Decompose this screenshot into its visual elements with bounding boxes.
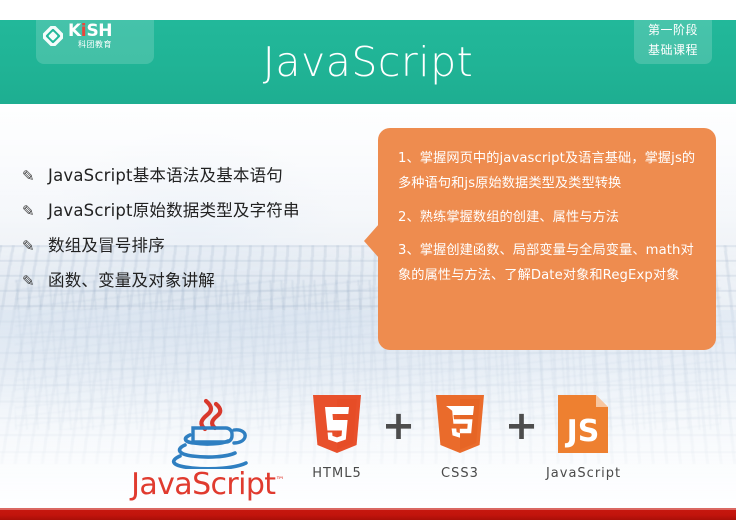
java-logo-text: JavaScript: [131, 467, 275, 502]
objectives-callout: 1、掌握网页中的javascript及语言基础，掌握js的多种语句和js原始数据…: [378, 128, 716, 350]
list-item: ✎ JavaScript原始数据类型及字符串: [22, 201, 362, 221]
objective-line: 3、掌握创建函数、局部变量与全局变量、math对象的属性与方法、了解Date对象…: [398, 238, 698, 289]
java-logo-group: JavaScript™: [125, 395, 290, 502]
html5-logo-group: HTML5: [300, 390, 374, 481]
slide-root: K i SH 科团教育 JavaScript 第一阶段 基础课程 ✎ JavaS…: [0, 0, 736, 520]
objective-line: 2、熟练掌握数组的创建、属性与方法: [398, 205, 698, 230]
callout-arrow-icon: [364, 224, 379, 258]
pencil-icon: ✎: [22, 167, 48, 187]
svg-text:JS: JS: [565, 414, 600, 449]
list-item-label: 函数、变量及对象讲解: [48, 271, 215, 291]
plus-separator-2: +: [505, 390, 539, 462]
bottom-bar-highlight: [0, 508, 736, 510]
objective-line: 1、掌握网页中的javascript及语言基础，掌握js的多种语句和js原始数据…: [398, 146, 698, 197]
tech-logo-row: JavaScript™ HTML5 +: [0, 388, 736, 508]
pencil-icon: ✎: [22, 202, 48, 222]
list-item: ✎ 函数、变量及对象讲解: [22, 271, 362, 291]
html5-shield-icon: [300, 390, 374, 462]
list-item-label: 数组及冒号排序: [48, 236, 165, 256]
css3-shield-icon: [423, 390, 497, 462]
stage-badge[interactable]: 第一阶段 基础课程: [634, 14, 712, 64]
java-coffee-cup-icon: [152, 395, 264, 469]
js-label: JavaScript: [546, 466, 620, 481]
pencil-icon: ✎: [22, 237, 48, 257]
stage-badge-line2: 基础课程: [648, 41, 698, 58]
list-item: ✎ 数组及冒号排序: [22, 236, 362, 256]
stage-badge-line1: 第一阶段: [648, 21, 698, 38]
css3-logo-group: CSS3: [423, 390, 497, 481]
topic-list: ✎ JavaScript基本语法及基本语句 ✎ JavaScript原始数据类型…: [22, 166, 362, 306]
java-logo-label: JavaScript™: [125, 467, 290, 502]
trademark-symbol: ™: [275, 476, 283, 486]
js-logo-group: JS JavaScript: [546, 390, 620, 481]
pencil-icon: ✎: [22, 272, 48, 292]
list-item: ✎ JavaScript基本语法及基本语句: [22, 166, 362, 186]
list-item-label: JavaScript原始数据类型及字符串: [48, 201, 300, 221]
js-square-icon: JS: [546, 390, 620, 462]
list-item-label: JavaScript基本语法及基本语句: [48, 166, 283, 186]
plus-separator-1: +: [382, 390, 416, 462]
css3-label: CSS3: [423, 466, 497, 481]
bottom-red-bar: [0, 508, 736, 520]
page-title: JavaScript: [0, 20, 736, 104]
tech-trio: HTML5 + CSS3 +: [300, 390, 620, 500]
html5-label: HTML5: [300, 466, 374, 481]
